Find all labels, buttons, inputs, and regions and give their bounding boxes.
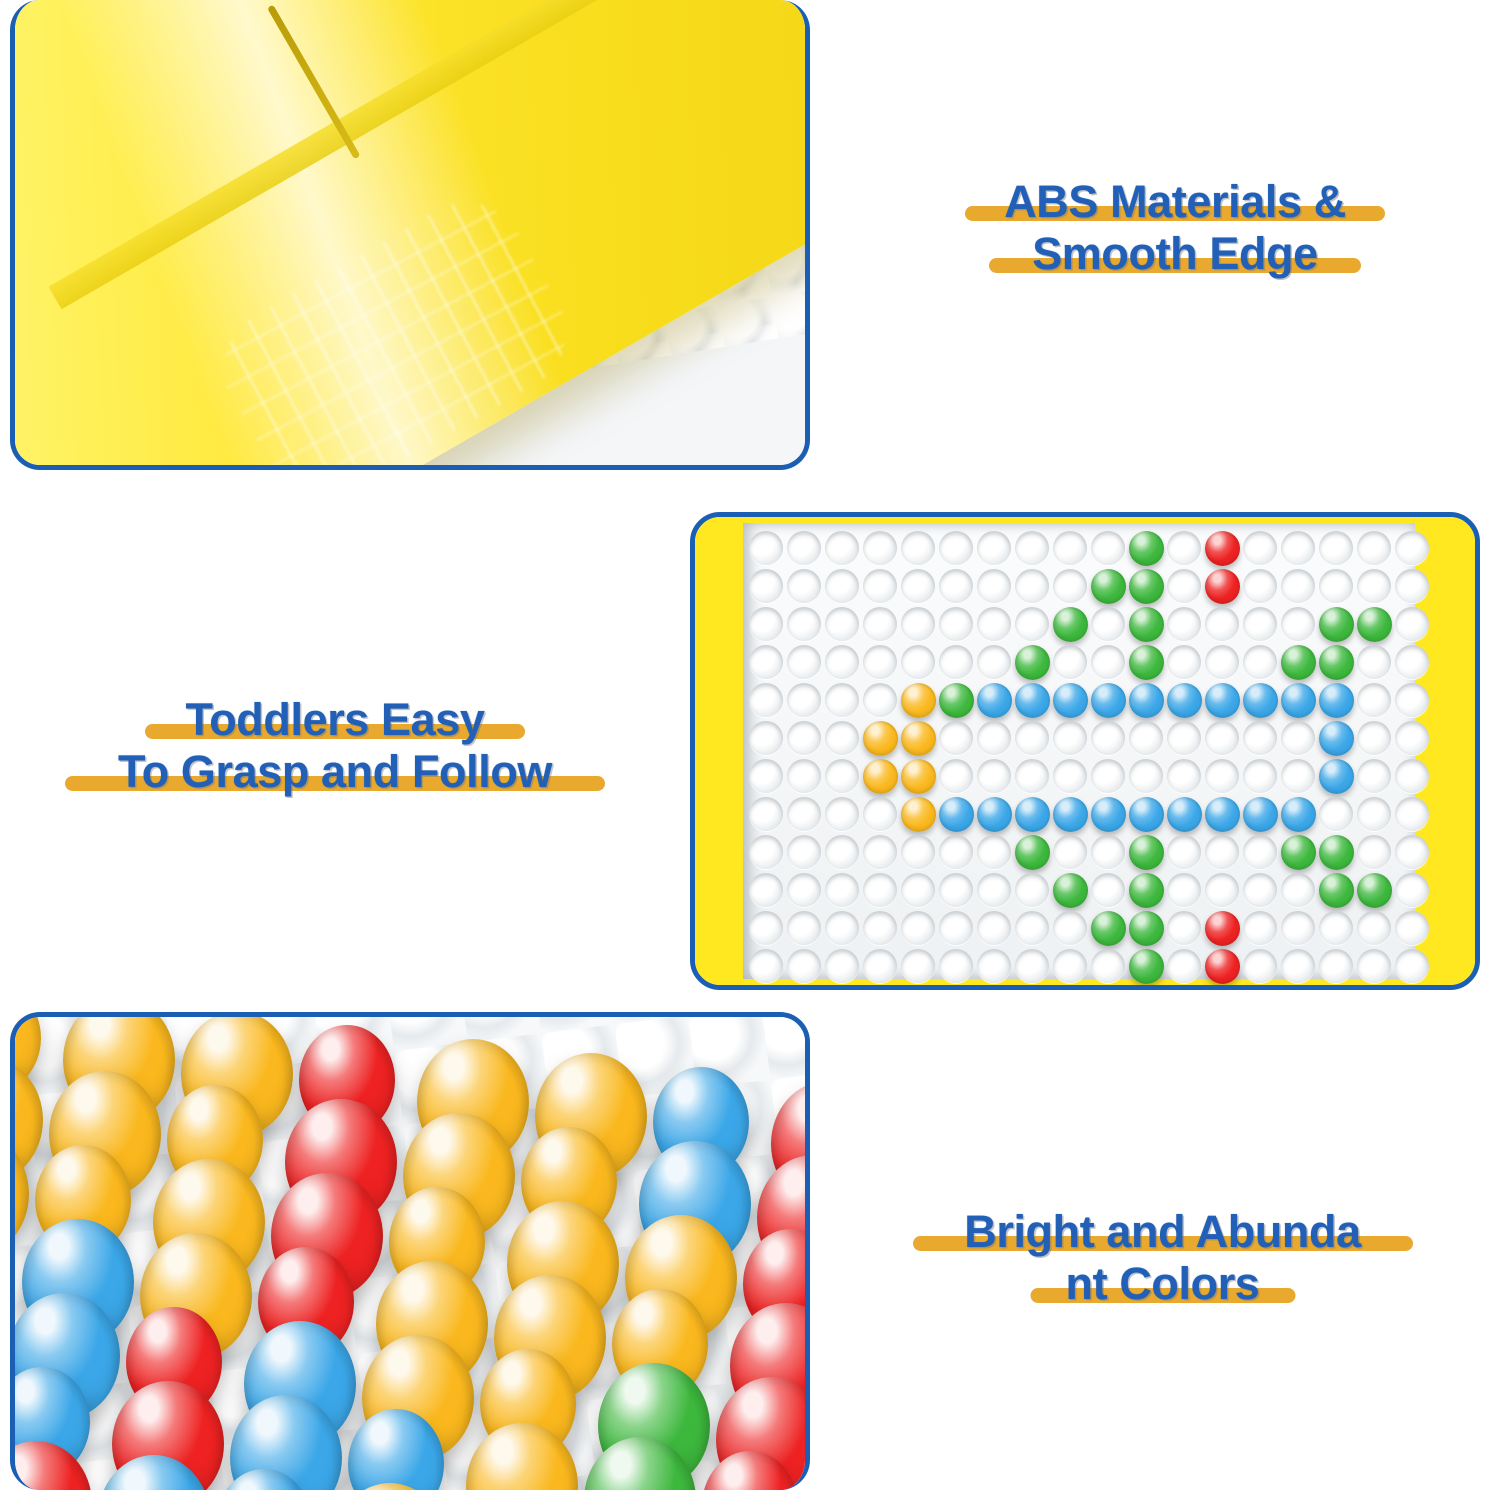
peg-blue bbox=[1205, 797, 1240, 832]
pegboard-hole bbox=[1243, 949, 1277, 983]
peg-red bbox=[1205, 949, 1240, 984]
pegboard-hole bbox=[1319, 531, 1353, 565]
pegboard-hole bbox=[825, 759, 859, 793]
pegboard-hole bbox=[1395, 607, 1429, 641]
pegboard-hole bbox=[1395, 531, 1429, 565]
pegboard-hole bbox=[749, 607, 783, 641]
pegboard-hole bbox=[825, 873, 859, 907]
peg-red bbox=[1205, 569, 1240, 604]
peg-blue bbox=[977, 683, 1012, 718]
pegboard-hole bbox=[1357, 797, 1391, 831]
caption-text: To Grasp and Follow bbox=[118, 746, 552, 797]
pegboard-hole bbox=[939, 569, 973, 603]
pegboard-hole bbox=[1167, 949, 1201, 983]
pegboard-hole bbox=[939, 759, 973, 793]
pegboard-hole bbox=[1015, 911, 1049, 945]
caption-line: To Grasp and Follow bbox=[35, 746, 635, 798]
caption-line: nt Colors bbox=[875, 1258, 1450, 1310]
pegboard-hole bbox=[1243, 911, 1277, 945]
peg-blue bbox=[1243, 797, 1278, 832]
pegboard-hole bbox=[1243, 645, 1277, 679]
pegboard-white-surface bbox=[743, 523, 1415, 979]
pegboard-hole bbox=[749, 911, 783, 945]
pegboard-hole bbox=[1205, 759, 1239, 793]
pegboard-hole bbox=[1281, 721, 1315, 755]
pegboard-hole bbox=[863, 835, 897, 869]
pegboard-hole bbox=[787, 835, 821, 869]
pegboard-hole bbox=[1053, 911, 1087, 945]
pegboard-hole bbox=[977, 645, 1011, 679]
pegboard-hole bbox=[1395, 911, 1429, 945]
pegboard-hole bbox=[749, 531, 783, 565]
pegboard-hole bbox=[1243, 835, 1277, 869]
pegboard-hole bbox=[863, 873, 897, 907]
pegboard-hole bbox=[1167, 645, 1201, 679]
peg-green bbox=[1091, 569, 1126, 604]
pegboard-hole bbox=[1357, 645, 1391, 679]
pegboard-hole bbox=[825, 645, 859, 679]
pegboard-hole bbox=[1395, 835, 1429, 869]
pegboard-hole bbox=[1395, 759, 1429, 793]
peg-blue bbox=[1205, 683, 1240, 718]
pegboard-hole bbox=[1053, 721, 1087, 755]
peg-green bbox=[1319, 607, 1354, 642]
pegboard-hole bbox=[977, 759, 1011, 793]
pegboard-hole bbox=[749, 759, 783, 793]
pegboard-hole bbox=[1053, 531, 1087, 565]
pegboard-hole bbox=[1091, 835, 1125, 869]
pegboard-hole bbox=[1167, 569, 1201, 603]
peg-green bbox=[1129, 949, 1164, 984]
pegboard-hole bbox=[1205, 607, 1239, 641]
pegboard-hole bbox=[1395, 683, 1429, 717]
pegboard-hole bbox=[1243, 607, 1277, 641]
pegboard-hole bbox=[825, 607, 859, 641]
caption-text: Bright and Abunda bbox=[964, 1206, 1361, 1257]
pegboard-hole bbox=[749, 835, 783, 869]
peg-green bbox=[1129, 645, 1164, 680]
peg-green bbox=[1053, 873, 1088, 908]
peg-green bbox=[1091, 911, 1126, 946]
pegboard-hole bbox=[1091, 607, 1125, 641]
caption-toddlers-grasp: Toddlers Easy To Grasp and Follow bbox=[35, 694, 635, 798]
peg-orange bbox=[863, 721, 898, 756]
pegboard-hole bbox=[1281, 759, 1315, 793]
peg-blue bbox=[1319, 721, 1354, 756]
pegboard-hole bbox=[1357, 721, 1391, 755]
pegboard-hole bbox=[1281, 911, 1315, 945]
pegboard-hole bbox=[1243, 873, 1277, 907]
pegboard-hole bbox=[901, 569, 935, 603]
peg-green bbox=[1319, 645, 1354, 680]
pegboard-hole bbox=[749, 873, 783, 907]
pegboard-hole bbox=[1167, 607, 1201, 641]
pegboard-hole bbox=[1091, 721, 1125, 755]
pegboard-hole bbox=[863, 797, 897, 831]
pegboard-hole bbox=[1395, 645, 1429, 679]
pegboard-hole bbox=[977, 835, 1011, 869]
pegboard-hole bbox=[977, 911, 1011, 945]
pegboard-hole bbox=[1357, 949, 1391, 983]
pegboard-hole bbox=[939, 531, 973, 565]
pegboard-hole bbox=[1205, 645, 1239, 679]
pegboard-hole bbox=[1129, 721, 1163, 755]
pegboard-hole bbox=[1395, 721, 1429, 755]
caption-line: ABS Materials & bbox=[905, 176, 1445, 228]
pegboard-hole bbox=[1243, 721, 1277, 755]
pegboard-hole bbox=[787, 759, 821, 793]
pegboard-hole bbox=[901, 873, 935, 907]
peg-green bbox=[1129, 835, 1164, 870]
pegboard-hole bbox=[825, 797, 859, 831]
pegboard-hole bbox=[901, 607, 935, 641]
peg-blue bbox=[1015, 797, 1050, 832]
pegboard-hole bbox=[1205, 835, 1239, 869]
peg-blue bbox=[1243, 683, 1278, 718]
pegboard-hole bbox=[863, 949, 897, 983]
pegboard-hole bbox=[939, 721, 973, 755]
pegboard-hole bbox=[1015, 531, 1049, 565]
pegboard-hole bbox=[1015, 607, 1049, 641]
pegboard-hole bbox=[1167, 835, 1201, 869]
pegboard-hole bbox=[1319, 911, 1353, 945]
pegboard-hole bbox=[1357, 531, 1391, 565]
pegboard-hole bbox=[1243, 531, 1277, 565]
panel-pegboard-pattern bbox=[690, 512, 1480, 990]
pegboard-hole bbox=[1015, 569, 1049, 603]
pegboard-hole bbox=[749, 569, 783, 603]
pegboard-hole bbox=[1053, 569, 1087, 603]
caption-line: Toddlers Easy bbox=[35, 694, 635, 746]
peg-green bbox=[1129, 569, 1164, 604]
pegboard-hole bbox=[939, 949, 973, 983]
pegboard-hole bbox=[863, 569, 897, 603]
peg-blue bbox=[1281, 683, 1316, 718]
pegboard-hole bbox=[939, 911, 973, 945]
pegboard-hole bbox=[1319, 949, 1353, 983]
pegboard-hole bbox=[1167, 721, 1201, 755]
pegboard-hole bbox=[1015, 759, 1049, 793]
pegboard-hole bbox=[1167, 873, 1201, 907]
pegboard-hole bbox=[901, 911, 935, 945]
peg-green bbox=[1357, 607, 1392, 642]
pegboard-hole bbox=[825, 949, 859, 983]
peg-blue bbox=[1015, 683, 1050, 718]
peg-green bbox=[1015, 645, 1050, 680]
peg-blue bbox=[1319, 683, 1354, 718]
pegboard-hole bbox=[1091, 759, 1125, 793]
pegboard-hole bbox=[1281, 949, 1315, 983]
peg-orange bbox=[901, 721, 936, 756]
pegboard-hole bbox=[1357, 683, 1391, 717]
peg-green bbox=[1129, 911, 1164, 946]
pegboard-hole bbox=[787, 949, 821, 983]
caption-line: Bright and Abunda bbox=[875, 1206, 1450, 1258]
pegboard-hole bbox=[825, 835, 859, 869]
peg-blue bbox=[1281, 797, 1316, 832]
peg-green bbox=[1357, 873, 1392, 908]
peg-blue bbox=[1167, 683, 1202, 718]
pegboard-hole bbox=[977, 607, 1011, 641]
peg-green bbox=[1129, 607, 1164, 642]
peg-green bbox=[1281, 835, 1316, 870]
pegboard-hole bbox=[977, 873, 1011, 907]
pegboard-hole bbox=[901, 835, 935, 869]
pegboard-grid bbox=[743, 523, 1415, 979]
pegboard-hole bbox=[1015, 873, 1049, 907]
pegboard-hole bbox=[1167, 531, 1201, 565]
peg-green bbox=[1281, 645, 1316, 680]
pegboard-hole bbox=[939, 645, 973, 679]
pegboard-hole bbox=[977, 531, 1011, 565]
pegboard-hole bbox=[749, 683, 783, 717]
peg-green bbox=[1015, 835, 1050, 870]
panel-abs-materials bbox=[10, 0, 810, 470]
pegboard-hole bbox=[939, 835, 973, 869]
pegboard-hole bbox=[1167, 911, 1201, 945]
pegboard-hole bbox=[1243, 759, 1277, 793]
peg-orange bbox=[901, 797, 936, 832]
caption-abs-materials: ABS Materials & Smooth Edge bbox=[905, 176, 1445, 280]
peg-orange bbox=[901, 683, 936, 718]
pegboard-hole bbox=[1281, 607, 1315, 641]
peg-blue bbox=[1129, 797, 1164, 832]
pegboard-hole bbox=[749, 797, 783, 831]
pegboard-hole bbox=[863, 531, 897, 565]
pegboard-hole bbox=[1281, 569, 1315, 603]
peg-green bbox=[1129, 873, 1164, 908]
pegboard-hole bbox=[901, 645, 935, 679]
pegboard-hole bbox=[787, 683, 821, 717]
pegboard-hole bbox=[787, 797, 821, 831]
pegboard-hole bbox=[1319, 797, 1353, 831]
peg-blue bbox=[1091, 683, 1126, 718]
pegboard-hole bbox=[1357, 759, 1391, 793]
pegboard-hole bbox=[1357, 835, 1391, 869]
pegboard-hole bbox=[863, 645, 897, 679]
peg-blue bbox=[1053, 797, 1088, 832]
pegboard-hole bbox=[1091, 873, 1125, 907]
pegboard-hole bbox=[1281, 531, 1315, 565]
pegboard-hole bbox=[939, 873, 973, 907]
pegboard-hole bbox=[787, 569, 821, 603]
panel-bright-colors bbox=[10, 1012, 810, 1490]
pegboard-hole bbox=[977, 949, 1011, 983]
pegboard-hole bbox=[939, 607, 973, 641]
pegboard-hole bbox=[749, 949, 783, 983]
pegboard-hole bbox=[1015, 721, 1049, 755]
pegboard-hole bbox=[1395, 797, 1429, 831]
pegboard-hole bbox=[901, 531, 935, 565]
pegboard-hole bbox=[1053, 835, 1087, 869]
pegboard-hole bbox=[1395, 949, 1429, 983]
pegboard-hole bbox=[825, 721, 859, 755]
peg-blue bbox=[1319, 759, 1354, 794]
pegboard-hole bbox=[1243, 569, 1277, 603]
peg-green bbox=[1319, 873, 1354, 908]
pegboard-hole bbox=[1395, 569, 1429, 603]
peg-blue bbox=[939, 797, 974, 832]
pegboard-hole bbox=[863, 683, 897, 717]
caption-text: Toddlers Easy bbox=[185, 694, 484, 745]
pegboard-hole bbox=[1205, 721, 1239, 755]
peg-blue bbox=[977, 797, 1012, 832]
pegboard-hole bbox=[749, 721, 783, 755]
infographic-canvas: ABS Materials & Smooth Edge Toddlers Eas… bbox=[0, 0, 1494, 1500]
peg-red bbox=[1205, 911, 1240, 946]
pegboard-hole bbox=[825, 569, 859, 603]
pegboard-hole bbox=[749, 645, 783, 679]
caption-text: ABS Materials & bbox=[1004, 176, 1346, 227]
pegboard-hole bbox=[1091, 645, 1125, 679]
peg-red bbox=[1205, 531, 1240, 566]
pegboard-hole bbox=[977, 721, 1011, 755]
pegboard-hole bbox=[977, 569, 1011, 603]
pegboard-hole bbox=[1357, 911, 1391, 945]
pegboard-hole bbox=[1053, 759, 1087, 793]
pegboard-hole bbox=[787, 911, 821, 945]
pegboard-hole bbox=[1357, 569, 1391, 603]
pegboard-hole bbox=[1091, 531, 1125, 565]
caption-bright-colors: Bright and Abunda nt Colors bbox=[875, 1206, 1450, 1310]
pegboard-hole bbox=[1129, 759, 1163, 793]
peg-blue bbox=[1091, 797, 1126, 832]
peg-orange bbox=[901, 759, 936, 794]
peg-green bbox=[1129, 531, 1164, 566]
colorful-peg-grid bbox=[15, 1017, 805, 1490]
pegboard-hole bbox=[1091, 949, 1125, 983]
caption-text: nt Colors bbox=[1066, 1258, 1260, 1309]
pegboard-hole bbox=[1205, 873, 1239, 907]
peg-green bbox=[939, 683, 974, 718]
pegboard-hole bbox=[1053, 949, 1087, 983]
pegboard-hole bbox=[863, 607, 897, 641]
peg-green bbox=[1319, 835, 1354, 870]
caption-line: Smooth Edge bbox=[905, 228, 1445, 280]
pegboard-hole bbox=[1319, 569, 1353, 603]
pegboard-hole bbox=[863, 911, 897, 945]
peg-blue bbox=[1167, 797, 1202, 832]
pegboard-hole bbox=[787, 531, 821, 565]
pegboard-hole bbox=[1167, 759, 1201, 793]
peg-green bbox=[1053, 607, 1088, 642]
peg-orange bbox=[863, 759, 898, 794]
pegboard-hole bbox=[1015, 949, 1049, 983]
peg-blue bbox=[1053, 683, 1088, 718]
caption-text: Smooth Edge bbox=[1032, 228, 1318, 279]
pegboard-hole bbox=[787, 645, 821, 679]
pegboard-hole bbox=[825, 683, 859, 717]
pegboard-hole bbox=[1395, 873, 1429, 907]
pegboard-hole bbox=[787, 721, 821, 755]
pegboard-hole bbox=[1281, 873, 1315, 907]
pegboard-hole bbox=[901, 949, 935, 983]
peg-blue bbox=[1129, 683, 1164, 718]
pegboard-hole bbox=[825, 911, 859, 945]
pegboard-hole bbox=[787, 607, 821, 641]
pegboard-hole bbox=[825, 531, 859, 565]
pegboard-hole bbox=[1053, 645, 1087, 679]
pegboard-hole bbox=[787, 873, 821, 907]
